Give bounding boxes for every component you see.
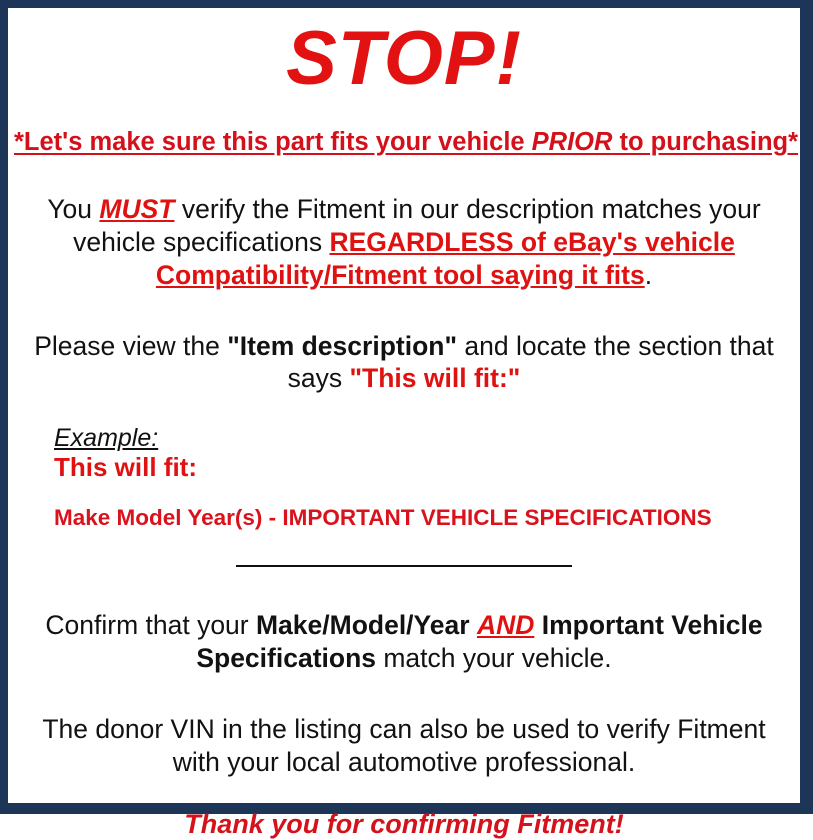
and-emphasis: AND — [477, 610, 534, 640]
example-this-will-fit: This will fit: — [54, 453, 794, 483]
stop-heading: STOP! — [14, 21, 794, 97]
donor-vin-paragraph: The donor VIN in the listing can also be… — [14, 713, 794, 779]
subtitle-prior-emphasis: PRIOR — [532, 128, 613, 156]
confirm-seg-3 — [534, 610, 541, 640]
confirm-seg-2 — [470, 610, 477, 640]
view-seg-1: Please view the — [34, 331, 227, 361]
item-description-emphasis: "Item description" — [227, 331, 457, 361]
make-model-year-emphasis: Make/Model/Year — [256, 610, 470, 640]
horizontal-rule — [236, 565, 572, 567]
fitment-notice-frame: STOP! *Let's make sure this part fits yo… — [0, 0, 813, 814]
example-spec-line: Make Model Year(s) - IMPORTANT VEHICLE S… — [54, 506, 794, 531]
subtitle-text-before: *Let's make sure this part fits your veh… — [14, 128, 532, 156]
subtitle-line: *Let's make sure this part fits your veh… — [14, 128, 794, 156]
example-label: Example: — [54, 425, 794, 451]
divider-container — [14, 557, 794, 575]
must-seg-1: You — [47, 194, 99, 224]
must-emphasis: MUST — [99, 194, 174, 224]
must-verify-paragraph: You MUST verify the Fitment in our descr… — [14, 193, 794, 292]
must-seg-3: . — [645, 260, 652, 290]
confirm-seg-1: Confirm that your — [45, 610, 256, 640]
example-block: Example: This will fit: Make Model Year(… — [14, 425, 794, 531]
item-description-paragraph: Please view the "Item description" and l… — [14, 330, 794, 396]
confirm-paragraph: Confirm that your Make/Model/Year AND Im… — [14, 609, 794, 675]
this-will-fit-emphasis: "This will fit:" — [349, 363, 520, 393]
subtitle-text-after: to purchasing* — [612, 128, 798, 156]
notice-content: STOP! *Let's make sure this part fits yo… — [8, 21, 800, 816]
thank-you-line: Thank you for confirming Fitment! — [14, 808, 794, 840]
confirm-seg-4: match your vehicle. — [376, 643, 612, 673]
